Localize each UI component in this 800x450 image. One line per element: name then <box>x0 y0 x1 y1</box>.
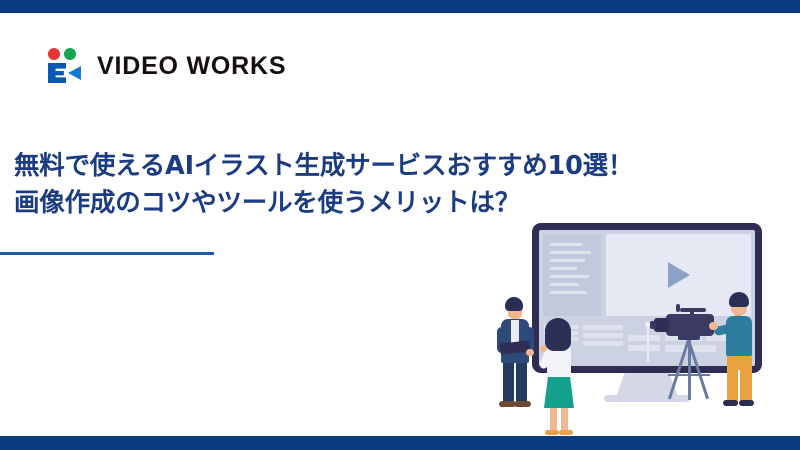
panel-line <box>550 291 587 294</box>
page-title-line-1: 無料で使えるAIイラスト生成サービスおすすめ10選！ <box>14 148 633 185</box>
hair <box>505 297 523 311</box>
slide-canvas: VIDEO WORKS 無料で使えるAIイラスト生成サービスおすすめ10選！ 画… <box>0 0 800 450</box>
tripod-leg <box>668 340 690 400</box>
top-brand-bar <box>0 0 800 13</box>
clip-bar <box>583 341 623 346</box>
video-editing-team-illustration <box>470 215 800 440</box>
hair <box>729 292 749 307</box>
play-triangle-icon <box>668 262 690 288</box>
logo-e-shape-icon <box>48 63 66 83</box>
logo-play-triangle-icon <box>68 66 81 80</box>
woman-standing <box>538 318 584 430</box>
hair <box>545 318 571 351</box>
camera-operator <box>718 292 768 412</box>
hand <box>709 322 718 330</box>
timeline-playhead[interactable] <box>647 324 649 362</box>
leg-split <box>738 370 740 402</box>
leg <box>550 406 557 433</box>
video-works-logo-mark <box>46 48 84 84</box>
hand <box>526 349 534 356</box>
camera-handle-stem <box>690 310 694 316</box>
shoe <box>514 401 531 407</box>
panel-line <box>550 267 577 270</box>
leg <box>561 406 568 433</box>
clip-bar <box>583 333 623 338</box>
logo-green-dot-icon <box>64 48 76 60</box>
panel-line <box>550 251 591 254</box>
panel-line <box>550 259 585 262</box>
editor-side-panel <box>543 234 601 316</box>
shoe <box>545 430 559 435</box>
timeline-clip-list <box>583 325 623 362</box>
clip-bar <box>583 325 623 330</box>
bottom-brand-bar <box>0 436 800 450</box>
shoe <box>723 400 738 406</box>
skirt <box>544 375 574 408</box>
camera-microphone <box>676 304 680 312</box>
shoe <box>739 400 754 406</box>
page-title: 無料で使えるAIイラスト生成サービスおすすめ10選！ 画像作成のコツやツールを使… <box>14 148 633 222</box>
leg <box>516 361 527 403</box>
man-with-laptop <box>494 297 540 409</box>
panel-line <box>550 283 579 286</box>
camera-lens <box>654 318 669 332</box>
page-title-line-2: 画像作成のコツやツールを使うメリットは？ <box>14 185 633 222</box>
shoe <box>559 430 573 435</box>
camera-lens-hood <box>650 321 656 329</box>
torso <box>726 316 752 356</box>
panel-line <box>550 243 582 246</box>
camera-body <box>666 314 714 336</box>
brand-logo-text: VIDEO WORKS <box>97 52 286 81</box>
panel-line <box>550 275 589 278</box>
tripod-brace <box>668 374 710 376</box>
headline-underline <box>0 252 214 255</box>
brand-logo[interactable]: VIDEO WORKS <box>46 48 286 84</box>
logo-red-dot-icon <box>48 48 60 60</box>
leg <box>503 361 514 403</box>
